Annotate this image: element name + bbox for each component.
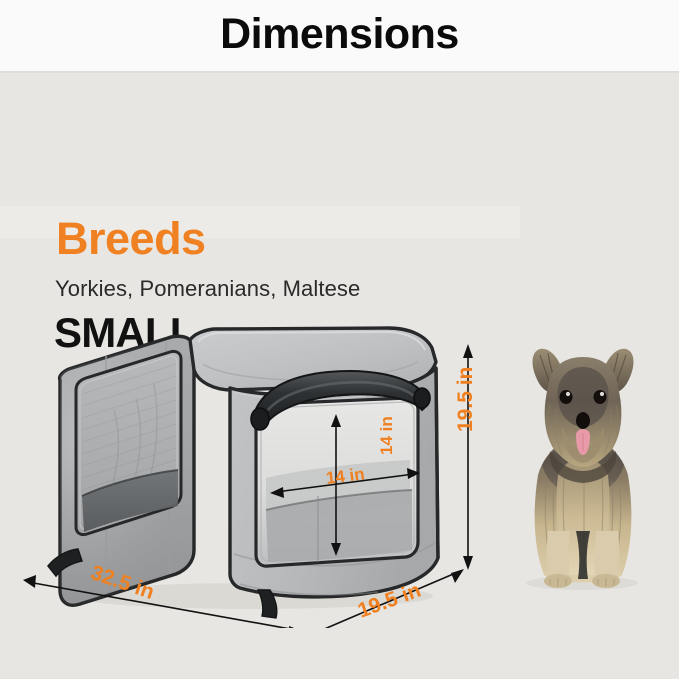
dog-left-eye: [560, 390, 573, 404]
dog-left-eye-glint: [566, 392, 570, 396]
height-arrow-top: [463, 344, 473, 358]
dog-right-eye: [594, 390, 607, 404]
handle-left-cap: [251, 408, 269, 430]
page-title: Dimensions: [220, 13, 459, 56]
dog-right-eye-glint: [600, 392, 604, 396]
breed-info-block: Breeds Yorkies, Pomeranians, Maltese SMA…: [0, 72, 679, 302]
depth-arrow-left: [23, 575, 36, 588]
breeds-heading: Breeds: [56, 216, 206, 261]
infographic-canvas: Dimensions Breeds Yorkies, Pomeranians, …: [0, 0, 679, 679]
height-arrow-bottom: [463, 556, 473, 570]
width-arrow-right: [451, 569, 464, 583]
front-right-edge: [436, 368, 438, 558]
door-width-dimension-label: 14 in: [325, 465, 366, 487]
breeds-list: Yorkies, Pomeranians, Maltese: [55, 278, 360, 300]
depth-arrow-right: [289, 626, 302, 628]
handle-right-cap: [414, 388, 430, 408]
dog-photo: [492, 335, 672, 615]
dog-left-leg: [547, 531, 570, 579]
height-dimension-label: 19.5 in: [455, 367, 476, 432]
dog-right-leg: [595, 531, 620, 579]
header-banner: Dimensions: [0, 0, 679, 72]
door-height-dimension-label: 14 in: [378, 416, 395, 455]
